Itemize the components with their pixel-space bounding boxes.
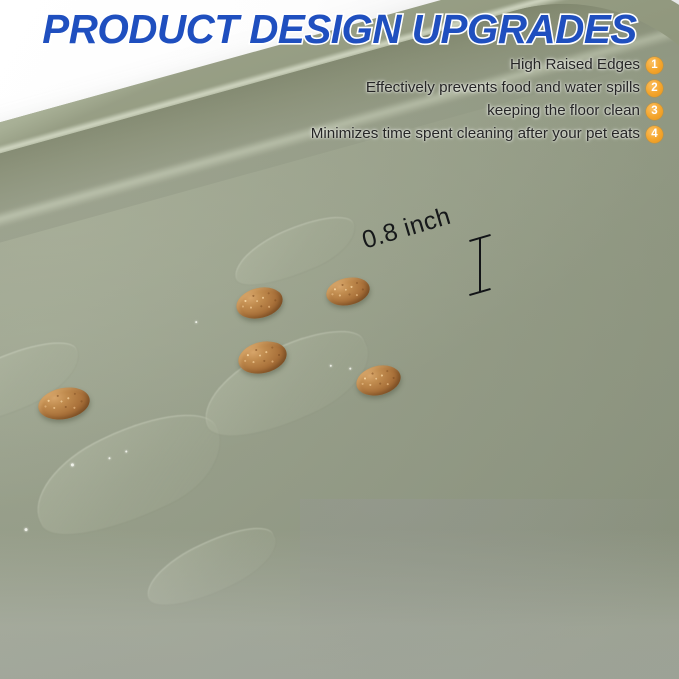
page-title: PRODUCT DESIGN UPGRADES — [5, 7, 674, 51]
dimension-line — [479, 238, 481, 292]
feature-text: Effectively prevents food and water spil… — [366, 78, 640, 98]
feature-list-item: keeping the floor clean3 — [487, 101, 663, 121]
feature-number-badge: 4 — [646, 126, 663, 143]
feature-text: keeping the floor clean — [487, 101, 640, 121]
floor-shadow-corner — [300, 499, 679, 679]
feature-list: High Raised Edges1Effectively prevents f… — [23, 55, 663, 144]
feature-list-item: High Raised Edges1 — [510, 55, 663, 75]
feature-text: High Raised Edges — [510, 55, 640, 75]
feature-number-badge: 1 — [646, 57, 663, 74]
feature-list-item: Effectively prevents food and water spil… — [366, 78, 663, 98]
feature-number-badge: 3 — [646, 103, 663, 120]
dimension-measure-bar — [469, 236, 491, 294]
feature-number-badge: 2 — [646, 80, 663, 97]
feature-text: Minimizes time spent cleaning after your… — [311, 124, 640, 144]
feature-list-item: Minimizes time spent cleaning after your… — [311, 124, 663, 144]
product-marketing-image: 0.8 inch PRODUCT DESIGN UPGRADES High Ra… — [0, 0, 679, 679]
